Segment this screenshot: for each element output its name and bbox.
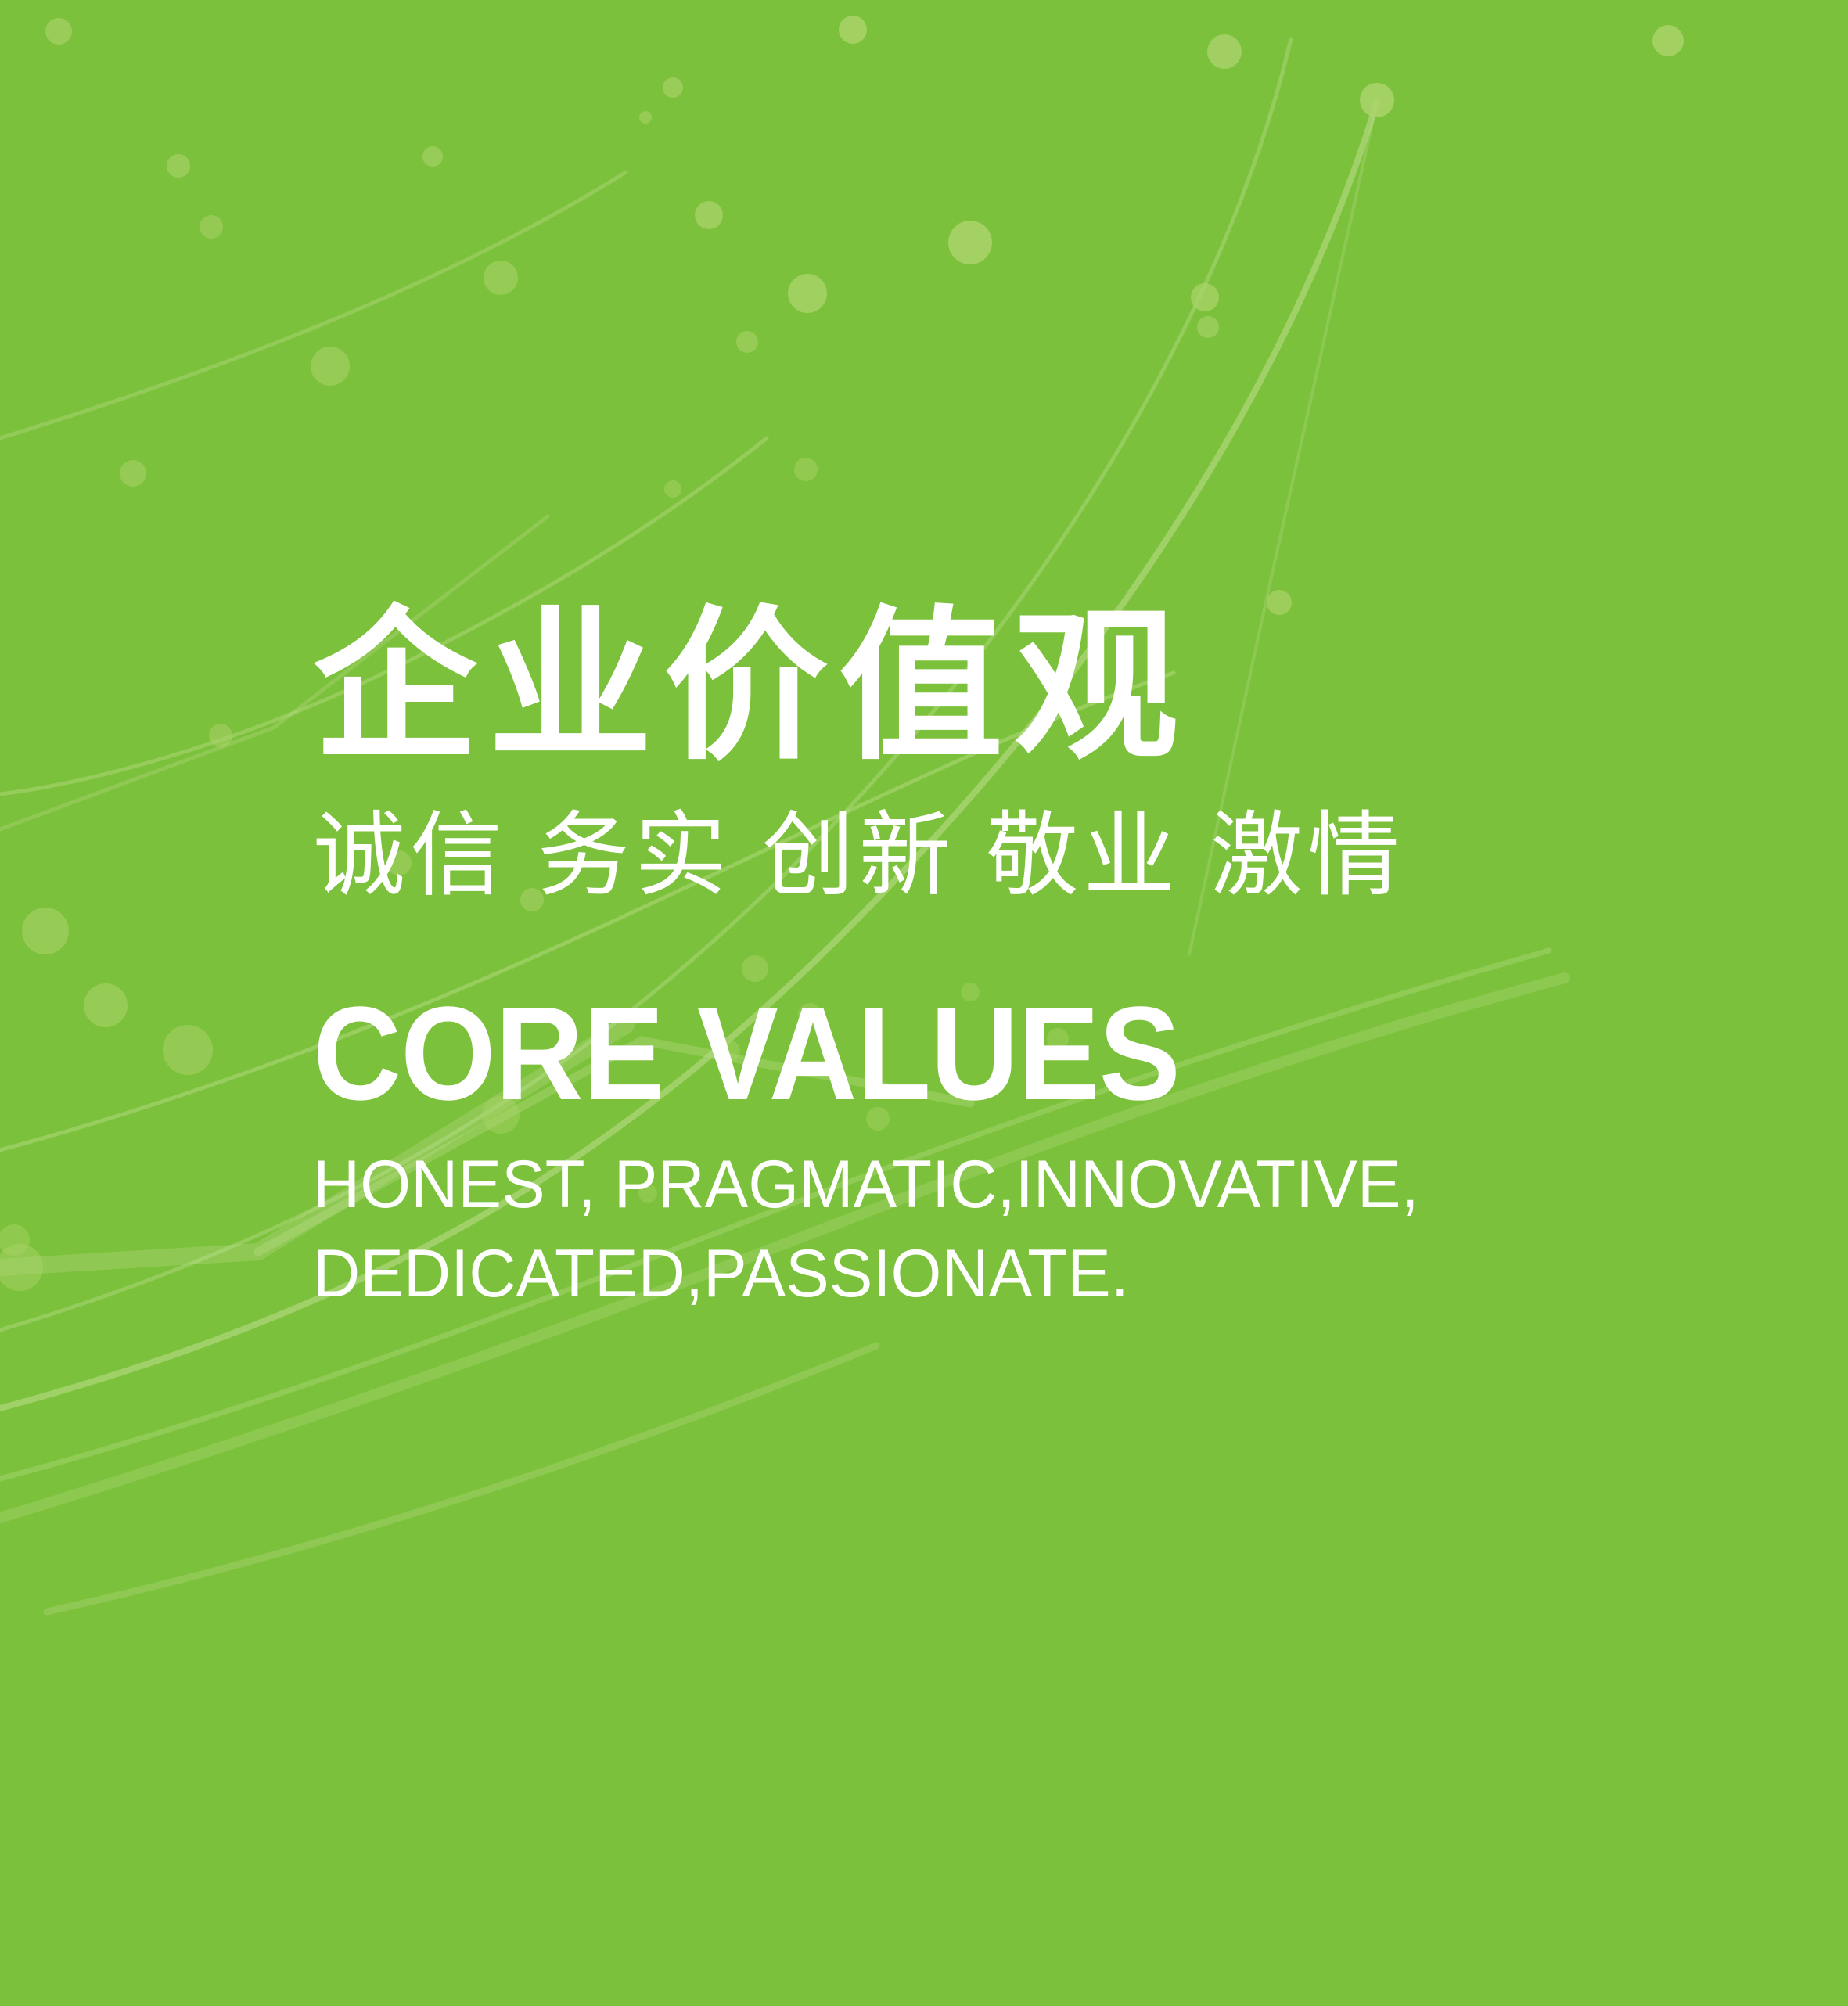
headline-english: CORE VALUES: [313, 987, 1609, 1120]
page-title-chinese: 企业价值观: [313, 595, 1721, 778]
body-english-line-1: HONEST, PRAGMATIC,INNOVATIVE,: [313, 1141, 1679, 1230]
poster-text-block: 企业价值观 诚信 务实 创新 敬业 激情 CORE VALUES HONEST,…: [313, 595, 1721, 1318]
core-values-poster: 企业价值观 诚信 务实 创新 敬业 激情 CORE VALUES HONEST,…: [0, 0, 1848, 2006]
body-english-line-2: DEDICATED,PASSIONATE.: [313, 1230, 1679, 1319]
body-english: HONEST, PRAGMATIC,INNOVATIVE, DEDICATED,…: [313, 1141, 1679, 1318]
subtitle-chinese-values: 诚信 务实 创新 敬业 激情: [313, 797, 1721, 915]
